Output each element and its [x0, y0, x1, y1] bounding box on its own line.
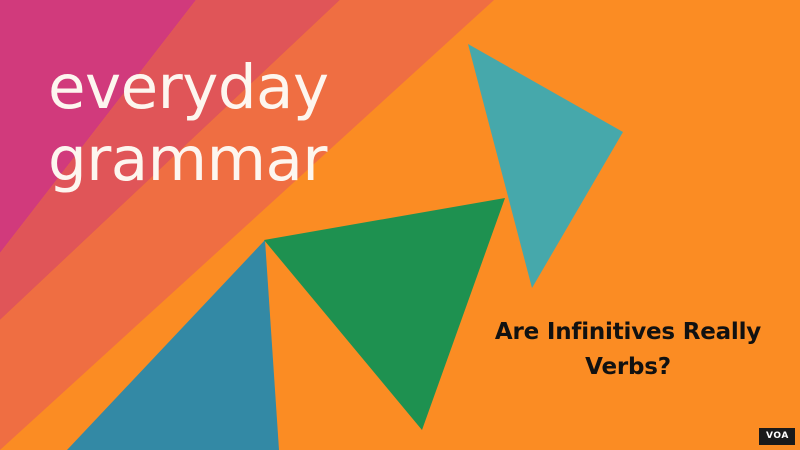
- episode-headline: Are Infinitives Really Verbs?: [478, 315, 778, 385]
- graphic-canvas: everyday grammar Are Infinitives Really …: [0, 0, 800, 450]
- voa-logo: VOA: [759, 428, 795, 445]
